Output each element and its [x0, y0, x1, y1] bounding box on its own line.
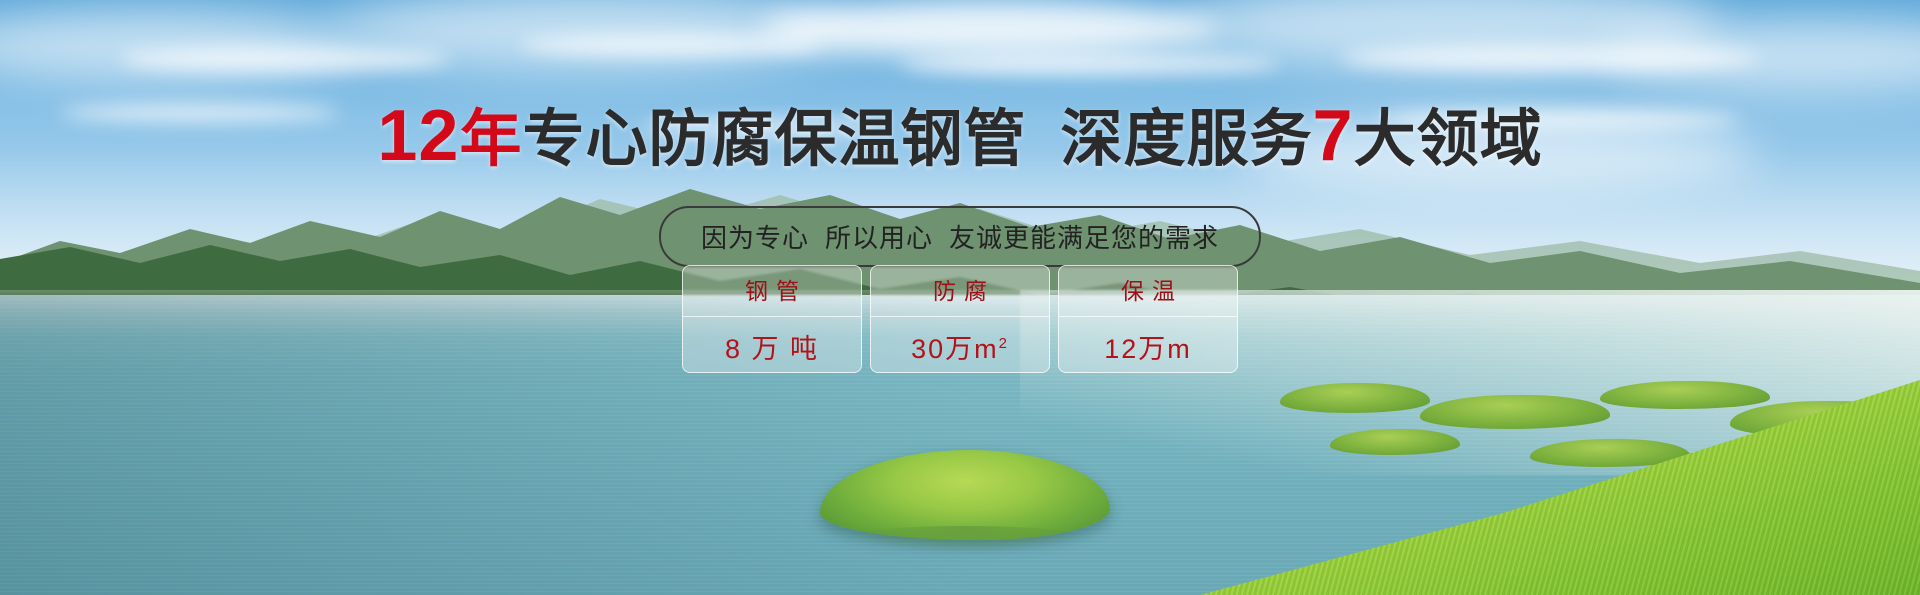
card-divider — [683, 316, 861, 317]
headline-fields-number: 7 — [1313, 96, 1354, 176]
stat-card-anticorrosion: 防腐 30万m2 — [870, 265, 1050, 373]
stat-card-steel-pipe: 钢管 8 万 吨 — [682, 265, 862, 373]
stat-card-title: 保温 — [1113, 272, 1183, 306]
headline-year-unit: 年 — [459, 105, 522, 174]
headline-service: 深度服务 — [1061, 105, 1313, 174]
stat-card-superscript: 2 — [999, 335, 1009, 352]
tagline-part-1: 因为专心 — [701, 223, 809, 253]
headline-fields-text: 大领域 — [1354, 105, 1543, 174]
page-title: 12年专心防腐保温钢管深度服务7大领域 — [0, 88, 1920, 178]
stat-card-value: 12万m — [1104, 327, 1192, 366]
stat-card-insulation: 保温 12万m — [1058, 265, 1238, 373]
tagline-pill: 因为专心所以用心友诚更能满足您的需求 — [659, 206, 1261, 267]
card-divider — [1059, 316, 1237, 317]
headline-year-number: 12 — [377, 96, 459, 176]
hero-banner: 12年专心防腐保温钢管深度服务7大领域 因为专心所以用心友诚更能满足您的需求 钢… — [0, 0, 1920, 595]
stat-card-value: 8 万 吨 — [725, 327, 819, 366]
stat-card-group: 钢管 8 万 吨 防腐 30万m2 保温 12万m — [682, 265, 1238, 373]
tagline-part-3: 友诚更能满足您的需求 — [949, 223, 1219, 253]
tagline-part-2: 所以用心 — [825, 223, 933, 253]
stat-card-value: 30万m2 — [911, 327, 1009, 366]
headline-lead: 专心防腐保温钢管 — [523, 105, 1027, 174]
stat-card-title: 防腐 — [925, 272, 995, 306]
card-divider — [871, 316, 1049, 317]
stat-card-title: 钢管 — [737, 272, 807, 306]
